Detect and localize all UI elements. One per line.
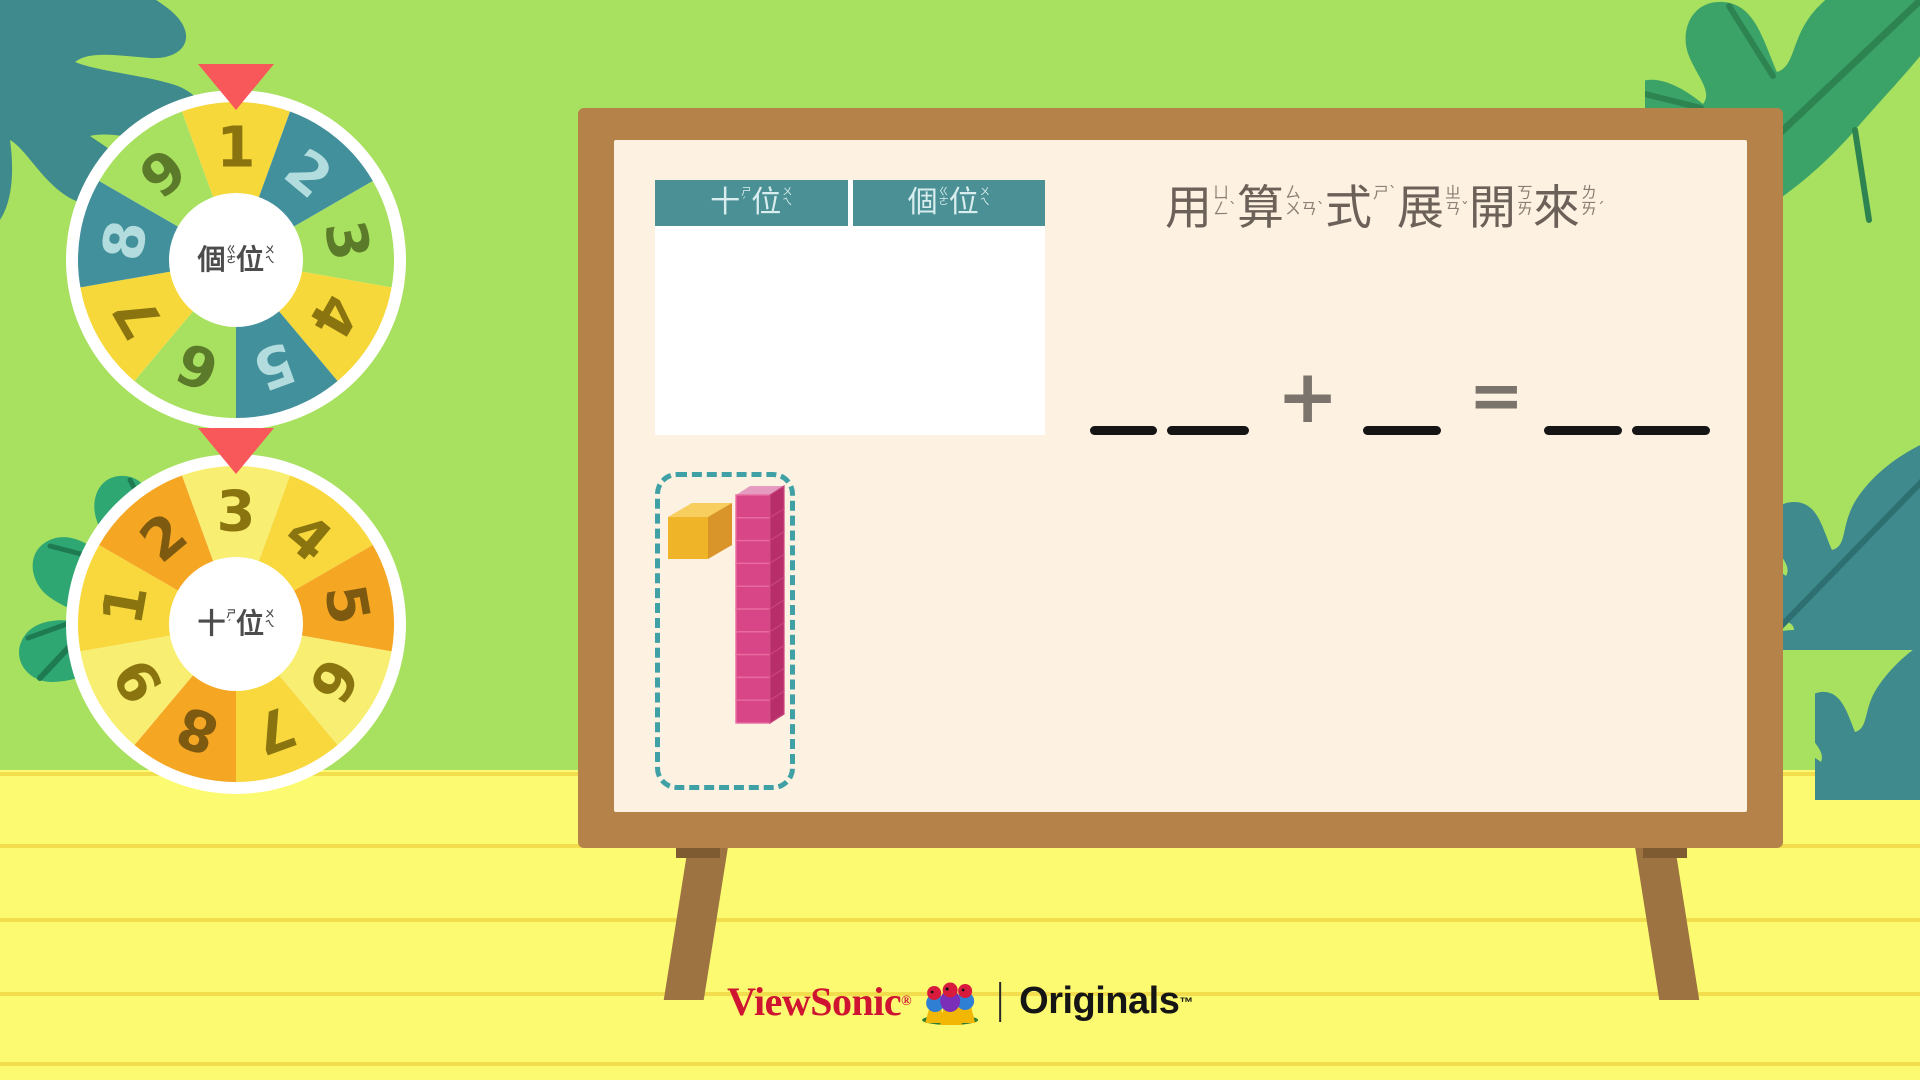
plus-operator: +	[1277, 368, 1339, 427]
base-ten-blocks	[658, 473, 792, 789]
wheel-number-3: 3	[217, 480, 256, 545]
base-ten-blocks-group[interactable]	[655, 472, 795, 790]
ruby-char: 位 ㄨ ㄟ	[236, 610, 275, 638]
ruby-base: 開	[1469, 185, 1516, 232]
monstera-leaf-bottom-right	[1815, 620, 1920, 800]
ten-rod-icon	[736, 486, 784, 723]
table-column-ones[interactable]: 個 ㄍ ㄜ 位 ㄨ ㄟ	[853, 180, 1046, 435]
pointer-triangle	[198, 64, 274, 110]
viewsonic-wordmark: ViewSonic	[727, 978, 901, 1025]
ruby-base: 算	[1237, 185, 1284, 232]
rod-unit-front	[736, 632, 770, 655]
table-cell-ones[interactable]	[853, 226, 1046, 435]
table-cell-tens[interactable]	[655, 226, 848, 435]
ruby-base: 用	[1165, 185, 1212, 232]
tens-spinner[interactable]: 345678912 十 ㄕ ˊ 位 ㄨ ㄟ	[66, 428, 406, 768]
ruby-char: 來ㄌ ㄞˊ	[1533, 185, 1605, 232]
rod-unit-front	[736, 563, 770, 586]
rod-unit-front	[736, 655, 770, 678]
rod-unit-front	[736, 541, 770, 564]
ruby-annotation: ㄓ ㄢˇ	[1445, 185, 1469, 218]
place-value-table: 十 ㄕ ˊ 位 ㄨ ㄟ 個 ㄍ ㄜ 位 ㄨ ㄟ	[655, 180, 1045, 435]
equals-operator: =	[1469, 370, 1524, 423]
rod-unit-front	[736, 586, 770, 609]
ruby-annotation: ㄎ ㄞ	[1517, 185, 1533, 218]
equation-row[interactable]: +=	[1090, 325, 1720, 435]
pointer-triangle	[198, 428, 274, 474]
column-header-ones: 個 ㄍ ㄜ 位 ㄨ ㄟ	[853, 180, 1046, 226]
table-column-tens[interactable]: 十 ㄕ ˊ 位 ㄨ ㄟ	[655, 180, 848, 435]
viewsonic-originals-logo: ViewSonic® Originals™	[727, 978, 1193, 1025]
rod-unit-front	[736, 609, 770, 632]
ruby-char: 十 ㄕ ˊ	[710, 188, 751, 218]
ruby-char: 開ㄎ ㄞ	[1469, 185, 1533, 232]
ruby-annotation: ㄙ ㄨㄢˋ	[1285, 185, 1325, 218]
answer-blank[interactable]	[1090, 426, 1157, 435]
ruby-base: 式	[1325, 185, 1372, 232]
ruby-base: 來	[1533, 185, 1580, 232]
column-header-tens: 十 ㄕ ˊ 位 ㄨ ㄟ	[655, 180, 848, 226]
unit-cube-icon	[668, 503, 732, 559]
answer-blank[interactable]	[1363, 426, 1441, 435]
answer-blank[interactable]	[1632, 426, 1710, 435]
lesson-stage: 123456789 個 ㄍ ㄜ 位 ㄨ ㄟ 345678912	[0, 0, 1920, 1080]
ruby-char: 位 ㄨ ㄟ	[949, 188, 990, 218]
ruby-annotation: ㄕˋ	[1373, 185, 1397, 201]
originals-wordmark: Originals	[1019, 980, 1179, 1023]
ruby-char: 十 ㄕ ˊ	[197, 610, 236, 638]
gouldian-finches-icon	[919, 979, 981, 1025]
ones-spinner[interactable]: 123456789 個 ㄍ ㄜ 位 ㄨ ㄟ	[66, 64, 406, 404]
registered-mark: ®	[901, 994, 911, 1010]
ruby-base: 展	[1397, 185, 1444, 232]
ruby-char: 個 ㄍ ㄜ	[197, 246, 236, 274]
monstera-leaf-right-middle	[1760, 420, 1920, 650]
ruby-annotation: ㄩ ㄥˋ	[1213, 185, 1237, 218]
answer-blank[interactable]	[1544, 426, 1622, 435]
rod-unit-front	[736, 495, 770, 518]
rod-unit-front	[736, 518, 770, 541]
ruby-char: 式ㄕˋ	[1325, 185, 1397, 232]
rod-unit-front	[736, 677, 770, 700]
ruby-annotation: ㄌ ㄞˊ	[1581, 185, 1605, 218]
ruby-char: 用ㄩ ㄥˋ	[1165, 185, 1237, 232]
wheel-hub-ones: 個 ㄍ ㄜ 位 ㄨ ㄟ	[169, 193, 303, 327]
rod-unit-front	[736, 700, 770, 723]
page-title: 用ㄩ ㄥˋ算ㄙ ㄨㄢˋ式ㄕˋ展ㄓ ㄢˇ開ㄎ ㄞ來ㄌ ㄞˊ	[1165, 185, 1605, 232]
wheel-hub-tens: 十 ㄕ ˊ 位 ㄨ ㄟ	[169, 557, 303, 691]
ruby-char: 算ㄙ ㄨㄢˋ	[1237, 185, 1325, 232]
logo-divider	[999, 982, 1001, 1022]
hub-label-tens: 十 ㄕ ˊ 位 ㄨ ㄟ	[197, 610, 274, 638]
ruby-char: 位 ㄨ ㄟ	[236, 246, 275, 274]
trademark-mark: ™	[1179, 994, 1193, 1010]
ruby-char: 位 ㄨ ㄟ	[751, 188, 792, 218]
answer-blank[interactable]	[1167, 426, 1249, 435]
ruby-char: 展ㄓ ㄢˇ	[1397, 185, 1469, 232]
ruby-char: 個 ㄍ ㄜ	[908, 188, 949, 218]
wheel-number-1: 1	[217, 116, 256, 181]
hub-label-ones: 個 ㄍ ㄜ 位 ㄨ ㄟ	[197, 246, 274, 274]
